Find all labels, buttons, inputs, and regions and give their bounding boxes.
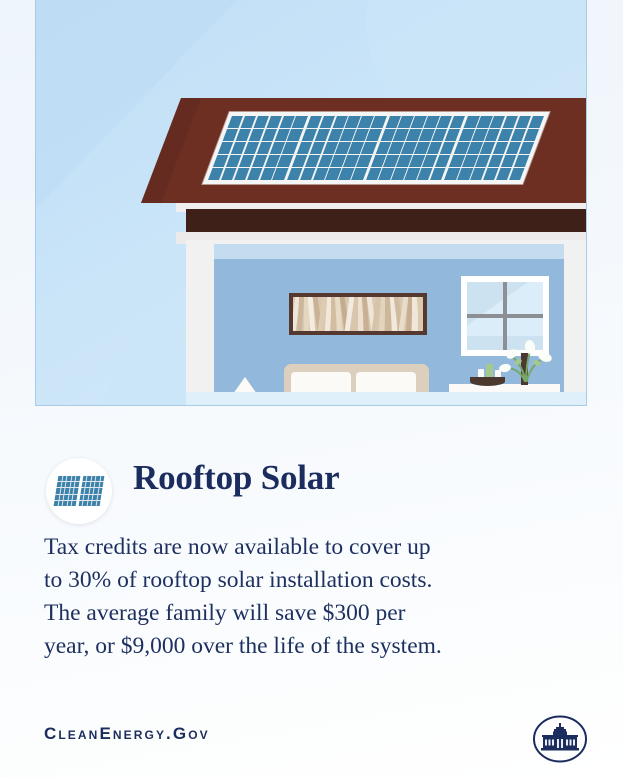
roof-fascia bbox=[186, 209, 586, 232]
rooftop-solar-array bbox=[203, 112, 550, 184]
artwork-stripes bbox=[293, 297, 423, 331]
body-copy: Tax credits are now available to cover u… bbox=[44, 531, 544, 663]
framed-artwork bbox=[289, 293, 427, 335]
window-mullion-horizontal bbox=[467, 314, 543, 318]
solar-panel-group bbox=[54, 476, 80, 506]
candle-center bbox=[486, 364, 493, 378]
bedroom-ceiling-band bbox=[214, 244, 564, 259]
house-illustration bbox=[36, 0, 587, 406]
white-house-seal[interactable] bbox=[532, 713, 588, 765]
poster-canvas: Rooftop Solar Tax credits are now availa… bbox=[0, 0, 623, 778]
solar-panel-group bbox=[78, 476, 104, 506]
body-line: to 30% of rooftop solar installation cos… bbox=[44, 564, 544, 597]
solar-panel-icon bbox=[54, 476, 105, 506]
solar-panel-badge bbox=[46, 458, 112, 524]
body-line: The average family will save $300 per bbox=[44, 597, 544, 630]
page-title: Rooftop Solar bbox=[133, 460, 339, 495]
body-line: year, or $9,000 over the life of the sys… bbox=[44, 630, 544, 663]
body-line: Tax credits are now available to cover u… bbox=[44, 531, 544, 564]
bedroom-floor bbox=[186, 392, 586, 406]
illustration-frame bbox=[35, 0, 587, 406]
site-url[interactable]: CleanEnergy.Gov bbox=[44, 724, 210, 744]
vase-plant bbox=[498, 334, 558, 382]
